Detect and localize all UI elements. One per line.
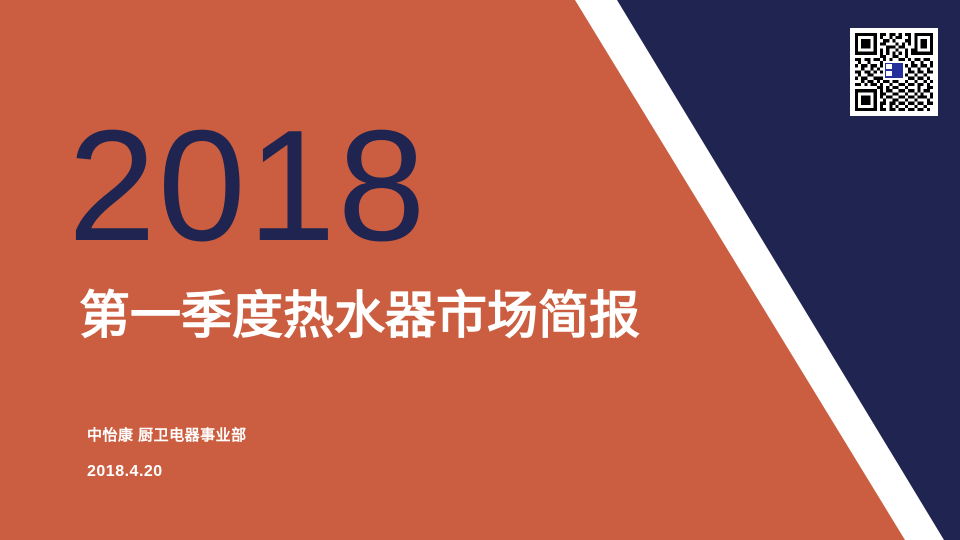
slide-footer: 中怡康 厨卫电器事业部 2018.4.20 bbox=[87, 426, 247, 481]
slide-headline: 第一季度热水器市场简报 bbox=[79, 288, 640, 344]
qr-code-logo-mark bbox=[885, 63, 903, 78]
title-slide: 2018 第一季度热水器市场简报 中怡康 厨卫电器事业部 2018.4.20 bbox=[0, 0, 960, 540]
footer-date: 2018.4.20 bbox=[87, 462, 247, 481]
qr-code-center-logo bbox=[883, 61, 905, 80]
slide-year: 2018 bbox=[68, 107, 428, 265]
footer-organization: 中怡康 厨卫电器事业部 bbox=[87, 426, 247, 446]
qr-code[interactable] bbox=[850, 28, 938, 116]
